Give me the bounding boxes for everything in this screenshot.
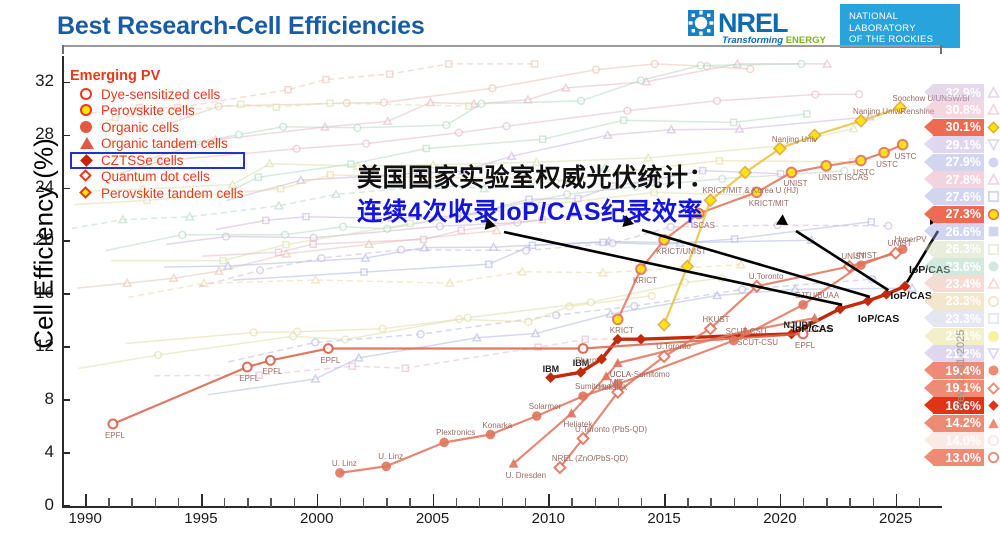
diamond-filled-marker-icon [80,154,93,167]
nrel-box-line-3: OF THE ROCKIES [849,34,960,46]
series-point-label: UNIST [888,239,912,248]
badge-marker [987,260,1000,273]
record-badge-26.3[interactable]: 26.3% [933,241,1000,258]
x-tick-major [896,494,898,507]
badge-pointer [924,119,933,135]
x-tick-major [548,494,550,507]
badge-pointer [924,449,933,465]
x-tick-minor [479,498,480,507]
legend-item-label: CZTSSe cells [101,153,184,168]
record-badge-value: 23.4% [933,275,984,292]
x-tick-minor [803,498,804,507]
x-tick-minor [340,498,341,507]
diamond-yellow-marker-icon [80,187,93,200]
x-tick-major [85,494,87,507]
triangle-filled-badge-icon [987,417,1000,430]
record-badge-30.8[interactable]: 30.8% [933,101,1000,118]
x-tick-minor [757,498,758,507]
x-tick-label-2020: 2020 [754,510,806,527]
x-tick-minor [710,498,711,507]
iop-cas-label-1: IoP/CAS [792,323,833,335]
x-tick-major [317,494,319,507]
series-point-label: KRICT/MIT & Korea U (HJ) [702,186,798,195]
x-tick-label-2025: 2025 [870,510,922,527]
diamond-filled-badge-icon [987,399,1000,412]
series-point-label: EPFL [262,367,282,376]
badge-pointer [924,380,933,396]
record-badge-27.3[interactable]: 27.3% [933,206,1000,223]
y-tick-mark [62,188,70,190]
square-open-badge-icon [987,312,1000,325]
record-badge-value: 23.6% [933,258,984,275]
badge-marker [987,156,1000,169]
legend-item-triangle-filled[interactable]: Organic tandem cells [70,136,245,153]
record-badge-14.0[interactable]: 14.0% [933,432,1000,449]
series-point-label: KRICT/MIT [749,199,789,208]
y-tick-label-0: 0 [18,495,54,515]
legend-item-diamond-yellow[interactable]: Perovskite tandem cells [70,185,245,202]
record-badge-23.6[interactable]: 23.6% [933,258,1000,275]
badge-pointer [924,328,933,344]
badge-marker [987,138,1000,151]
series-point-label: U. Dresden [506,471,546,480]
badge-marker [987,399,1000,412]
series-point-label: Solarmer [529,402,561,411]
nrel-gear-icon [688,10,714,36]
x-tick-minor [131,498,132,507]
series-point-label: Plextronics [436,428,475,437]
y-tick-label-20: 20 [18,230,54,250]
badge-marker [987,173,1000,186]
x-tick-major [780,494,782,507]
series-point-label: EPFL [320,356,340,365]
record-badge-value: 27.9% [933,154,984,171]
record-badge-value: 13.0% [933,449,984,466]
legend: Emerging PV Dye-sensitized cellsPerovski… [70,68,245,202]
badge-pointer [924,362,933,378]
y-tick-mark [62,240,70,242]
y-axis-line [62,56,64,508]
legend-item-label: Dye-sensitized cells [101,87,220,102]
revision-text: Rev. 12-11-2025 [955,330,967,410]
x-tick-label-1990: 1990 [59,510,111,527]
badge-marker [987,364,1000,377]
legend-item-diamond-open[interactable]: Quantum dot cells [70,169,245,186]
record-badge-value: 14.2% [933,415,984,432]
record-badge-27.8[interactable]: 27.8% [933,171,1000,188]
triangle-open-badge-icon [987,173,1000,186]
badge-marker [987,190,1000,203]
x-tick-minor [687,498,688,507]
nrel-subtitle-box: NATIONAL LABORATORY OF THE ROCKIES [840,4,960,48]
x-tick-label-2005: 2005 [407,510,459,527]
y-tick-label-8: 8 [18,389,54,409]
x-tick-minor [873,498,874,507]
record-badge-value: 32.9% [933,84,984,101]
badge-pointer [924,136,933,152]
badge-pointer [924,101,933,117]
badge-pointer [924,397,933,413]
record-badge-26.6[interactable]: 26.6% [933,223,1000,240]
series-point-label: SCUT-CSU [726,327,767,336]
record-badge-29.1[interactable]: 29.1% [933,136,1000,153]
x-tick-minor [247,498,248,507]
x-tick-minor [386,498,387,507]
x-tick-minor [595,498,596,507]
badge-marker [987,277,1000,290]
diamond-yellow-badge-icon [987,121,1000,134]
legend-item-diamond-filled[interactable]: CZTSSe cells [70,152,245,169]
record-badge-23.3[interactable]: 23.3% [933,310,1000,327]
annotation-line-2: 连续4次收录IoP/CAS纪录效率 [357,192,703,228]
y-tick-mark [62,399,70,401]
record-badge-value: 23.3% [933,310,984,327]
record-badge-32.9[interactable]: 32.9% [933,84,1000,101]
circle-filled-badge-icon [987,260,1000,273]
badge-pointer [924,223,933,239]
record-badge-value: 27.6% [933,188,984,205]
x-tick-minor [618,498,619,507]
series-point-label: KRICT [633,276,657,285]
record-badge-23.3[interactable]: 23.3% [933,293,1000,310]
x-tick-minor [270,498,271,507]
series-point-label: EPFL [795,341,815,350]
legend-item-label: Quantum dot cells [101,169,210,184]
series-point-label: MIT [610,378,624,387]
iop-cas-label-2: IoP/CAS [858,313,899,325]
x-tick-minor [178,498,179,507]
badge-pointer [924,171,933,187]
x-tick-major [664,494,666,507]
circle-open-marker-icon [80,88,93,101]
y-tick-label-32: 32 [18,71,54,91]
badge-marker [987,330,1000,343]
legend-item-label: Perovskite tandem cells [101,186,244,201]
badge-pointer [924,275,933,291]
x-tick-minor [409,498,410,507]
x-tick-minor [826,498,827,507]
record-badge-value: 29.1% [933,136,984,153]
badge-pointer [924,154,933,170]
series-point-label: SCUT-CSU [737,338,778,347]
y-tick-label-28: 28 [18,124,54,144]
circle-yellow-marker-icon [80,104,93,117]
legend-item-circle-filled[interactable]: Organic cells [70,119,245,136]
y-tick-label-4: 4 [18,442,54,462]
square-filled-badge-icon [987,225,1000,238]
plot-top-border [62,45,942,47]
record-badge-30.1[interactable]: 30.1% [933,119,1000,136]
x-tick-minor [571,498,572,507]
circle-filled-badge-icon [987,364,1000,377]
circle-yellow-badge-icon [987,208,1000,221]
series-point-label: EPFL [239,374,259,383]
x-tick-minor [502,498,503,507]
badge-marker [987,121,1000,134]
x-tick-minor [849,498,850,507]
series-point-label: USTC [853,168,875,177]
badge-pointer [924,432,933,448]
x-tick-minor [734,498,735,507]
record-badge-value: 26.3% [933,241,984,258]
badge-marker [987,382,1000,395]
x-tick-minor [155,498,156,507]
badge-marker [987,295,1000,308]
badge-marker [987,86,1000,99]
series-point-label: USTC [895,152,917,161]
x-tick-label-2000: 2000 [291,510,343,527]
x-tick-minor [294,498,295,507]
y-tick-label-24: 24 [18,177,54,197]
record-badge-23.4[interactable]: 23.4% [933,275,1000,292]
legend-title: Emerging PV [70,68,245,84]
nrel-box-line-2: LABORATORY [849,23,960,35]
y-tick-mark [62,505,70,507]
badge-pointer [924,84,933,100]
x-tick-minor [363,498,364,507]
series-point-label: Sharp [575,356,596,365]
square-open-badge-icon [987,243,1000,256]
series-point-label: Konarka [482,421,512,430]
badge-pointer [924,415,933,431]
x-tick-minor [224,498,225,507]
series-point-label: USTC [876,160,898,169]
x-tick-label-1995: 1995 [175,510,227,527]
circle-yellow-badge-icon [987,330,1000,343]
triangle-open-badge-icon [987,103,1000,116]
circle-filled-marker-icon [80,121,93,134]
legend-item-circle-open[interactable]: Dye-sensitized cells [70,86,245,103]
x-tick-minor [641,498,642,507]
circle-open-badge-icon [987,451,1000,464]
x-tick-minor [525,498,526,507]
record-badge-value: 26.6% [933,223,984,240]
triangle-filled-marker-icon [80,137,93,150]
annotation-line-1: 美国国家实验室权威光伏统计： [357,158,714,194]
series-point-label: U. Linz [332,459,357,468]
badge-pointer [924,293,933,309]
x-tick-minor [919,498,920,507]
series-point-label: U.Toronto [656,342,691,351]
badge-pointer [924,206,933,222]
record-badge-27.9[interactable]: 27.9% [933,154,1000,171]
triangle-down-badge-icon [987,347,1000,360]
badge-marker [987,225,1000,238]
badge-marker [987,417,1000,430]
legend-item-label: Perovskite cells [101,103,195,118]
x-tick-major [433,494,435,507]
slide-root: Best Research-Cell Efficiencies NREL Tra… [0,0,1000,545]
record-badge-27.6[interactable]: 27.6% [933,188,1000,205]
triangle-open-badge-icon [987,86,1000,99]
record-badge-value: 30.8% [933,101,984,118]
badge-pointer [924,188,933,204]
record-badge-value: 30.1% [933,119,984,136]
x-tick-label-2015: 2015 [638,510,690,527]
circle-open-badge-icon [987,295,1000,308]
record-badge-14.2[interactable]: 14.2% [933,415,1000,432]
plot-top-right-tick [940,45,942,54]
series-point-label: Nanjing Univ/Renshine [853,107,934,116]
x-tick-label-2010: 2010 [522,510,574,527]
badge-marker [987,434,1000,447]
legend-item-label: Organic tandem cells [101,136,228,151]
series-point-label: KRICT [610,326,634,335]
legend-item-label: Organic cells [101,120,179,135]
badge-marker [987,451,1000,464]
x-tick-minor [456,498,457,507]
record-badge-value: 14.0% [933,432,984,449]
series-point-label: IBM [543,364,560,374]
series-point-label: Nanjing Univ [772,135,817,144]
record-badge-value: 27.3% [933,206,984,223]
badge-marker [987,208,1000,221]
y-tick-mark [62,82,70,84]
triangle-down-badge-icon [987,138,1000,151]
x-tick-major [201,494,203,507]
triangle-open-badge-icon [987,277,1000,290]
series-point-label: KRICT/UNIST [656,247,706,256]
diamond-open-marker-icon [80,170,93,183]
badge-pointer [924,345,933,361]
series-point-label: U.Toronto [749,272,784,281]
y-tick-mark [62,135,70,137]
series-point-label: U.Toronto (PbS-QD) [575,425,647,434]
record-badge-value: 27.8% [933,171,984,188]
diamond-open-badge-icon [987,382,1000,395]
y-tick-mark [62,452,70,454]
badge-pointer [924,310,933,326]
badge-marker [987,312,1000,325]
nrel-logo: NREL Transforming ENERGY [688,6,834,48]
y-tick-label-16: 16 [18,283,54,303]
x-tick-minor [108,498,109,507]
nrel-box-line-1: NATIONAL [849,11,960,23]
badge-marker [987,243,1000,256]
record-badge-13.0[interactable]: 13.0% [933,449,1000,466]
circle-filled-badge-icon [987,156,1000,169]
badge-marker [987,103,1000,116]
record-badge-value: 23.3% [933,293,984,310]
series-point-label: U. Linz [378,452,403,461]
page-title: Best Research-Cell Efficiencies [57,12,425,41]
y-tick-mark [62,293,70,295]
badge-pointer [924,258,933,274]
legend-item-circle-yellow[interactable]: Perovskite cells [70,103,245,120]
series-point-label: NREL (ZnO/PbS-QD) [552,454,628,463]
series-point-label: HKUST [702,315,729,324]
badge-marker [987,347,1000,360]
y-tick-mark [62,346,70,348]
square-open-badge-icon [987,190,1000,203]
series-point-label: SJTU/BUAA [795,291,839,300]
plot-top-left-tick [62,45,64,54]
badge-pointer [924,241,933,257]
series-point-label: EPFL [105,431,125,440]
circle-open-badge-icon [987,434,1000,447]
y-tick-label-12: 12 [18,336,54,356]
series-point-label: UNIST [841,252,865,261]
